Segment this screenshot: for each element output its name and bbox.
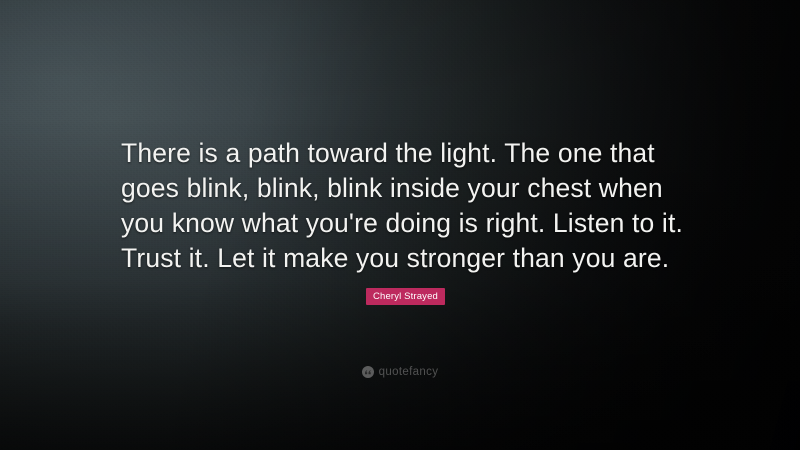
author-name-badge: Cheryl Strayed — [366, 288, 445, 305]
quote-line-2: goes blink, blink, blink inside your che… — [121, 171, 687, 206]
quote-text-block: There is a path toward the light. The on… — [121, 136, 687, 276]
quote-poster: There is a path toward the light. The on… — [0, 0, 800, 450]
quote-line-4: Trust it. Let it make you stronger than … — [121, 241, 687, 276]
quotefancy-brand-text: quotefancy — [379, 366, 439, 378]
quote-line-1: There is a path toward the light. The on… — [121, 136, 687, 171]
quote-line-3: you know what you're doing is right. Lis… — [121, 206, 687, 241]
quotefancy-watermark: quotefancy — [0, 366, 800, 378]
quote-mark-circle-icon — [362, 366, 374, 378]
